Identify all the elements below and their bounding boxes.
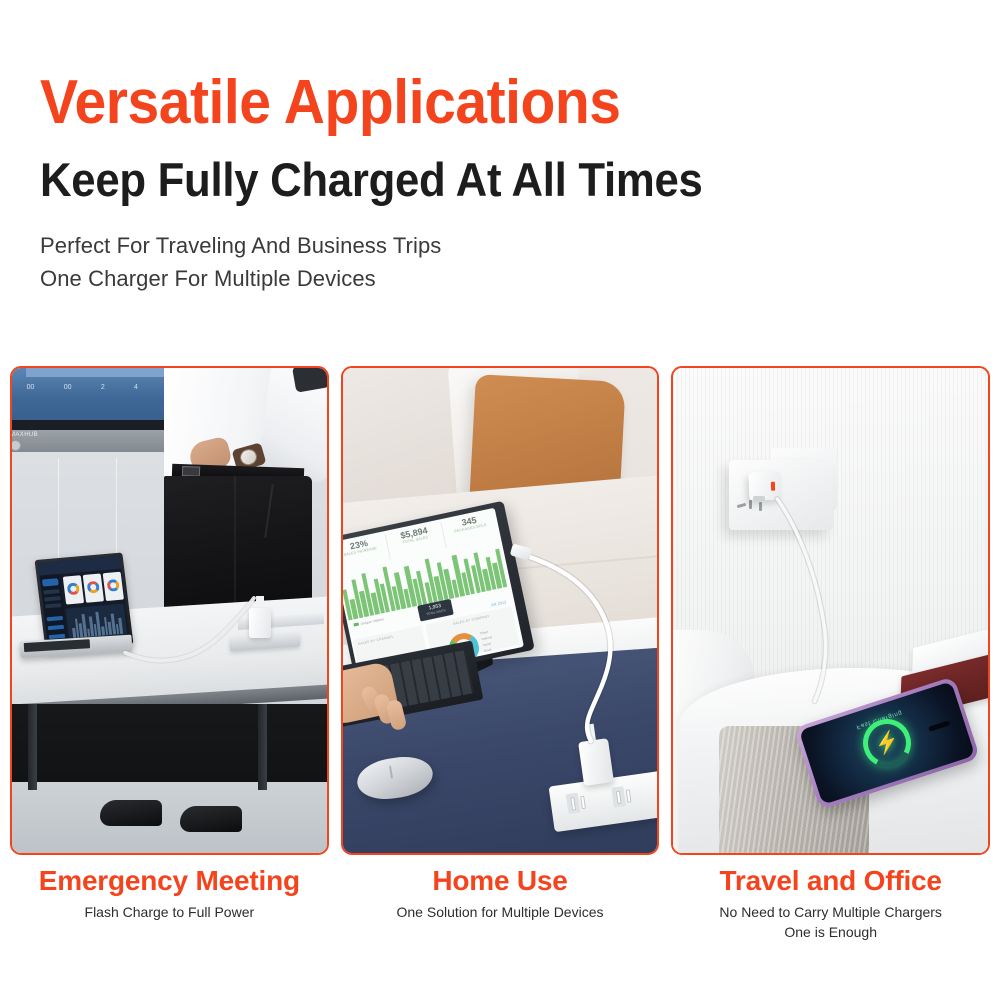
dashboard-card (83, 573, 104, 602)
wall-charger (249, 608, 271, 638)
watch-face (238, 447, 259, 467)
caption-subtitle: Flash Charge to Full Power (10, 903, 329, 923)
laptop-dashboard (38, 556, 130, 649)
bar-chart (70, 608, 123, 638)
scene-panel-emergency-meeting: 00 00 2 4 6 8 MAXHUB (10, 366, 329, 855)
scene-panel-home-use: 23% SALES INCREASE $5,894 TOTAL SALES 34… (341, 366, 660, 855)
caption-subtitle: One Solution for Multiple Devices (341, 903, 660, 923)
caption-emergency-meeting: Emergency Meeting Flash Charge to Full P… (10, 858, 329, 978)
caption-subtitle-line-1: No Need to Carry Multiple Chargers (671, 903, 990, 923)
page-title: Versatile Applications (40, 72, 923, 134)
dashboard-card (103, 572, 124, 601)
donut-chart-icon (106, 579, 119, 592)
tick-label: 2 (101, 384, 105, 391)
laptop-keyboard (24, 639, 90, 652)
desk-leg (28, 704, 37, 790)
caption-subtitle-line-2: One is Enough (671, 923, 990, 943)
caption-row: Emergency Meeting Flash Charge to Full P… (10, 858, 990, 978)
travel-scene-image: Fast Charging ⚡ (673, 368, 988, 853)
header-bullet-1: Perfect For Traveling And Business Trips (40, 230, 1000, 263)
charging-cable (343, 368, 658, 853)
office-floor (10, 782, 329, 855)
panel-row: 00 00 2 4 6 8 MAXHUB (10, 366, 990, 855)
dashboard-card (63, 575, 84, 604)
donut-chart-icon (67, 582, 80, 595)
bar (119, 618, 124, 634)
desk-leg (258, 704, 267, 790)
tick-label: 4 (134, 384, 138, 391)
sidebar-active-item (42, 578, 59, 586)
page-subtitle: Keep Fully Charged At All Times (40, 156, 933, 203)
header-bullets: Perfect For Traveling And Business Trips… (40, 230, 1000, 295)
header-bullet-2: One Charger For Multiple Devices (40, 263, 1000, 296)
shoe (100, 800, 162, 826)
under-desk-shadow (10, 704, 329, 790)
phone-speaker-notch (928, 720, 950, 732)
caption-title: Travel and Office (671, 864, 990, 897)
scene-panel-travel-and-office: Fast Charging ⚡ (671, 366, 990, 855)
caption-travel-and-office: Travel and Office No Need to Carry Multi… (671, 858, 990, 978)
caption-title: Home Use (341, 864, 660, 897)
caption-home-use: Home Use One Solution for Multiple Devic… (341, 858, 660, 978)
tick-label: 00 (64, 384, 72, 391)
caption-title: Emergency Meeting (10, 864, 329, 897)
home-scene-image: 23% SALES INCREASE $5,894 TOTAL SALES 34… (343, 368, 658, 853)
tick-label: 00 (27, 384, 35, 391)
display-brand-label: MAXHUB (10, 432, 38, 438)
header-block: Versatile Applications Keep Fully Charge… (0, 0, 1000, 295)
caption-subtitle: No Need to Carry Multiple Chargers One i… (671, 903, 990, 943)
trouser-pocket (264, 484, 273, 538)
display-knob-icon (10, 440, 21, 451)
meeting-scene-image: 00 00 2 4 6 8 MAXHUB (12, 368, 327, 853)
donut-chart-icon (87, 581, 100, 594)
shoe (180, 806, 242, 832)
